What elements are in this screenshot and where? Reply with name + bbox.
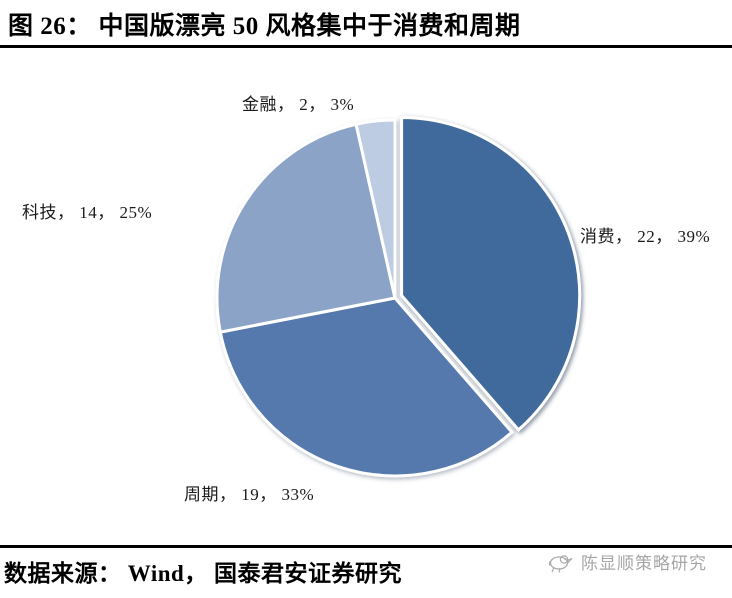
pie-label-finance: 金融， 2， 3%	[242, 90, 354, 115]
source-note: 数据来源： Wind， 国泰君安证券研究	[4, 554, 402, 588]
pie-label-tech: 科技， 14， 25%	[22, 198, 152, 223]
title-divider	[0, 45, 732, 48]
pie-chart-svg	[0, 50, 732, 542]
pie-label-consumer: 消费， 22， 39%	[580, 222, 710, 247]
footer-divider	[0, 545, 732, 548]
page-title: 图 26： 中国版漂亮 50 风格集中于消费和周期	[8, 6, 724, 42]
pie-chart: 金融， 2， 3% 科技， 14， 25% 消费， 22， 39% 周期， 19…	[0, 50, 732, 542]
bird-logo-icon	[548, 551, 574, 573]
pie-label-cycle: 周期， 19， 33%	[184, 480, 314, 505]
watermark-text: 陈显顺策略研究	[581, 549, 707, 574]
watermark: 陈显顺策略研究	[548, 549, 707, 574]
